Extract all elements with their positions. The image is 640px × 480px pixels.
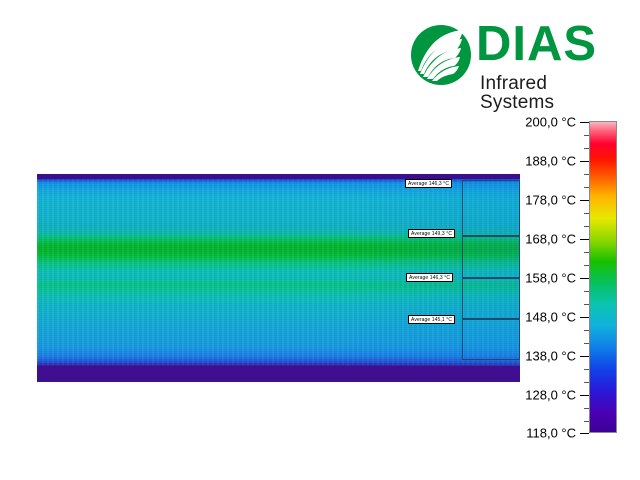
colorbar-tick-148 xyxy=(580,317,589,318)
colorbar-minor-tick-14 xyxy=(584,382,589,383)
temperature-colorbar: 200,0 °C 188,0 °C 178,0 °C 168,0 °C 158,… xyxy=(520,112,640,442)
colorbar-tick-158 xyxy=(580,278,589,279)
colorbar-minor-tick-8 xyxy=(584,265,589,266)
colorbar-tick-188 xyxy=(580,161,589,162)
dias-logo: DIAS Infrared Systems xyxy=(410,18,620,96)
colorbar-tick-128 xyxy=(580,395,589,396)
colorbar-minor-tick-7 xyxy=(584,252,589,253)
colorbar-tick-118 xyxy=(580,433,589,434)
colorbar-tick-200 xyxy=(580,122,589,123)
colorbar-label-200: 200,0 °C xyxy=(525,115,576,130)
colorbar-gradient xyxy=(589,121,617,433)
colorbar-minor-tick-11 xyxy=(584,330,589,331)
colorbar-label-138: 138,0 °C xyxy=(525,349,576,364)
thermal-image[interactable]: Average 146,3 °C Average 149,3 °C Averag… xyxy=(37,174,520,382)
colorbar-minor-tick-15 xyxy=(584,408,589,409)
colorbar-minor-tick-2 xyxy=(584,148,589,149)
colorbar-label-178: 178,0 °C xyxy=(525,193,576,208)
colorbar-minor-tick-12 xyxy=(584,343,589,344)
colorbar-minor-tick-16 xyxy=(584,421,589,422)
colorbar-label-168: 168,0 °C xyxy=(525,232,576,247)
roi-box-4[interactable] xyxy=(462,319,520,360)
colorbar-tick-178 xyxy=(580,200,589,201)
colorbar-minor-tick-3 xyxy=(584,174,589,175)
brand-name: DIAS xyxy=(476,20,597,69)
colorbar-minor-tick-5 xyxy=(584,213,589,214)
thermal-bottom-edge xyxy=(37,366,520,382)
brand-tagline: Infrared Systems xyxy=(480,74,620,112)
roi-label-4: Average 145,1 °C xyxy=(408,315,455,324)
roi-box-1[interactable] xyxy=(462,180,520,236)
roi-label-3: Average 146,3 °C xyxy=(406,273,453,282)
roi-box-3[interactable] xyxy=(462,278,520,319)
colorbar-minor-tick-4 xyxy=(584,187,589,188)
colorbar-label-148: 148,0 °C xyxy=(525,310,576,325)
colorbar-label-188: 188,0 °C xyxy=(525,154,576,169)
colorbar-label-128: 128,0 °C xyxy=(525,388,576,403)
colorbar-minor-tick-10 xyxy=(584,304,589,305)
colorbar-minor-tick-13 xyxy=(584,369,589,370)
colorbar-minor-tick-1 xyxy=(584,135,589,136)
roi-label-1: Average 146,3 °C xyxy=(405,179,452,188)
colorbar-tick-138 xyxy=(580,356,589,357)
colorbar-minor-tick-9 xyxy=(584,291,589,292)
colorbar-label-158: 158,0 °C xyxy=(525,271,576,286)
colorbar-tick-168 xyxy=(580,239,589,240)
colorbar-label-118: 118,0 °C xyxy=(526,426,576,441)
roi-box-2[interactable] xyxy=(462,236,520,278)
colorbar-minor-tick-6 xyxy=(584,226,589,227)
dias-leaf-logo-icon xyxy=(410,24,472,86)
roi-label-2: Average 149,3 °C xyxy=(408,229,455,238)
